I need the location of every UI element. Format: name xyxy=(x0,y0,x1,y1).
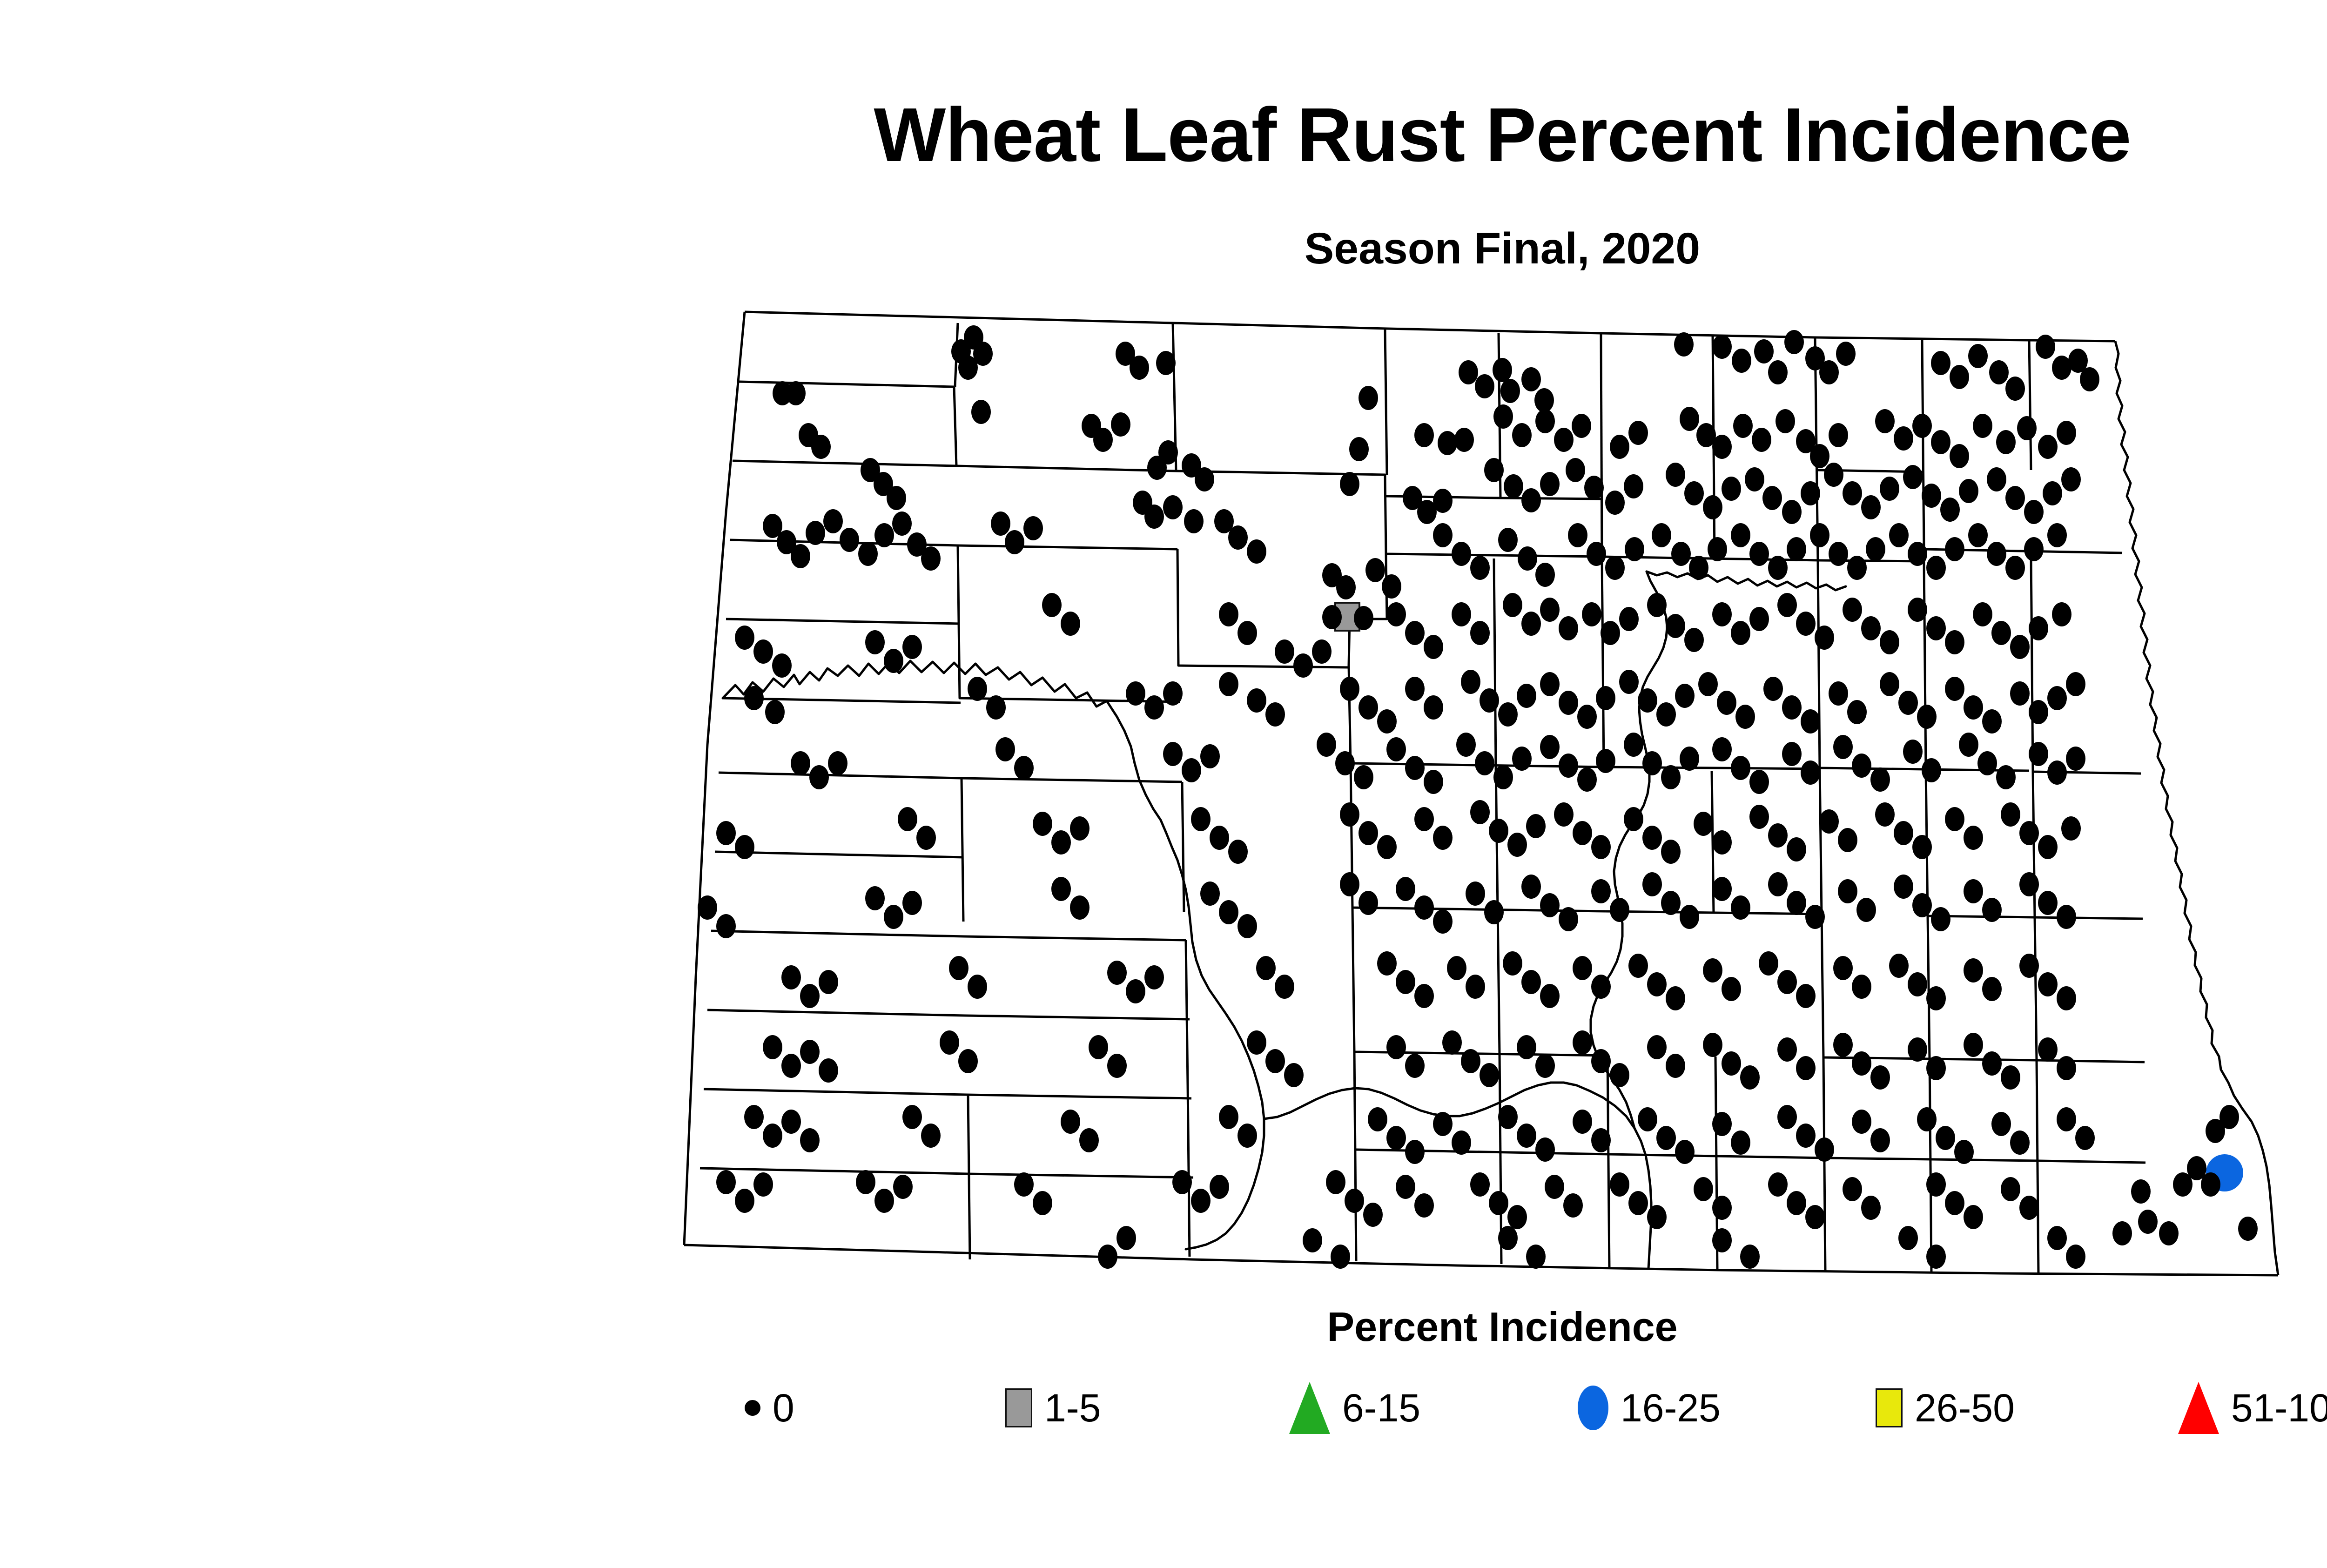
data-point-0 xyxy=(1475,374,1494,398)
data-point-0 xyxy=(1733,414,1753,438)
data-point-0 xyxy=(1566,458,1585,482)
data-point-0 xyxy=(1577,767,1597,792)
data-point-0 xyxy=(884,649,903,673)
data-point-0 xyxy=(1540,893,1560,917)
data-point-0 xyxy=(828,751,847,775)
data-point-0 xyxy=(1521,367,1541,391)
data-point-0 xyxy=(1521,612,1541,636)
data-point-0 xyxy=(1749,542,1769,566)
data-point-0 xyxy=(1852,1110,1871,1134)
data-point-0 xyxy=(1414,984,1434,1008)
data-point-0 xyxy=(1752,428,1771,452)
data-point-0 xyxy=(1433,523,1453,547)
data-point-0 xyxy=(1749,805,1769,829)
data-point-0 xyxy=(735,626,754,650)
data-point-0 xyxy=(1461,670,1480,694)
data-point-0 xyxy=(1815,1137,1834,1162)
data-point-0 xyxy=(1940,498,1960,522)
data-point-0 xyxy=(1642,751,1662,775)
data-point-0 xyxy=(1191,807,1211,831)
data-point-0 xyxy=(2047,686,2067,710)
data-point-0 xyxy=(995,737,1015,761)
data-point-0 xyxy=(1968,523,1988,547)
data-point-0 xyxy=(1847,700,1867,724)
data-point-0 xyxy=(1265,1049,1285,1073)
data-point-0 xyxy=(1540,735,1560,759)
data-point-0 xyxy=(1870,1128,1890,1152)
data-point-0 xyxy=(1703,1033,1722,1057)
data-point-0 xyxy=(1051,877,1071,901)
legend-item-6-15[interactable]: 6-15 xyxy=(1289,1368,1420,1447)
data-point-0 xyxy=(1493,765,1513,789)
data-point-0 xyxy=(1126,681,1145,706)
data-point-0 xyxy=(1912,414,1932,438)
data-point-0 xyxy=(1256,956,1276,980)
legend-item-26-50[interactable]: 26-50 xyxy=(1876,1368,2015,1447)
data-point-0 xyxy=(1712,435,1732,459)
data-point-0 xyxy=(1526,1245,1546,1269)
data-point-0 xyxy=(1340,872,1359,896)
data-point-0 xyxy=(1456,733,1476,757)
data-point-0 xyxy=(1489,1191,1508,1215)
data-point-0 xyxy=(2138,1210,2158,1234)
data-point-0 xyxy=(753,639,773,664)
data-point-0 xyxy=(1784,330,1804,354)
data-point-0 xyxy=(1768,872,1788,896)
data-point-0 xyxy=(1601,621,1620,645)
data-point-0 xyxy=(1833,1033,1853,1057)
data-point-0 xyxy=(1433,489,1453,513)
data-point-0 xyxy=(1903,465,1923,489)
data-point-0 xyxy=(1526,814,1546,838)
data-point-0 xyxy=(1908,1037,1927,1062)
data-point-0 xyxy=(811,435,831,459)
data-point-0 xyxy=(744,686,764,710)
data-point-0 xyxy=(921,1124,941,1148)
data-point-0 xyxy=(892,511,912,536)
data-point-0 xyxy=(2001,802,2020,827)
data-point-0 xyxy=(1493,404,1513,429)
data-point-0 xyxy=(1591,879,1611,903)
data-point-0 xyxy=(1922,758,1941,782)
data-point-0 xyxy=(809,765,829,789)
data-point-0 xyxy=(1763,677,1783,701)
data-point-0 xyxy=(1507,1205,1527,1229)
data-point-0 xyxy=(1517,1124,1536,1148)
data-point-0 xyxy=(765,700,785,724)
data-point-0 xyxy=(2017,416,2037,440)
data-point-0 xyxy=(1815,626,1834,650)
data-point-0 xyxy=(2057,421,2076,445)
data-point-0 xyxy=(1414,1193,1434,1218)
data-point-0 xyxy=(1861,616,1881,640)
data-point-0 xyxy=(1833,956,1853,980)
data-point-0 xyxy=(1498,528,1518,552)
data-point-0 xyxy=(1093,428,1113,452)
data-point-0 xyxy=(2024,537,2044,561)
data-point-0 xyxy=(1950,444,1969,468)
data-point-0 xyxy=(1722,1051,1741,1076)
data-point-0 xyxy=(2019,954,2039,978)
data-point-0 xyxy=(1438,431,1457,455)
data-point-0 xyxy=(1591,1128,1611,1152)
data-point-0 xyxy=(1573,956,1592,980)
data-point-0 xyxy=(893,1175,913,1199)
data-point-0 xyxy=(858,542,878,566)
data-point-0 xyxy=(2061,467,2081,491)
legend-square-icon xyxy=(1005,1388,1032,1427)
data-point-0 xyxy=(2029,616,2048,640)
data-point-0 xyxy=(1042,593,1062,617)
data-point-0 xyxy=(1535,409,1555,433)
data-point-0 xyxy=(2036,335,2055,359)
data-point-0 xyxy=(1908,542,1927,566)
data-point-0 xyxy=(2057,1107,2076,1131)
data-point-0 xyxy=(1991,621,2011,645)
data-point-0 xyxy=(2052,602,2071,626)
data-point-0 xyxy=(1801,481,1820,505)
legend-item-0[interactable]: 0 xyxy=(745,1368,794,1447)
data-point-0 xyxy=(1312,639,1332,664)
data-point-0 xyxy=(1787,837,1806,861)
data-point-0 xyxy=(1987,467,2006,491)
data-point-0 xyxy=(1345,1189,1364,1213)
data-point-0 xyxy=(1712,1228,1732,1252)
data-point-0 xyxy=(1521,488,1541,512)
legend-item-label: 26-50 xyxy=(1915,1386,2015,1431)
data-point-0 xyxy=(1926,986,1946,1010)
data-point-0 xyxy=(1610,435,1629,459)
data-point-0 xyxy=(1836,342,1856,366)
data-point-0 xyxy=(1014,756,1034,780)
data-point-0 xyxy=(1433,909,1453,934)
data-point-0 xyxy=(1247,688,1266,713)
data-point-0 xyxy=(1089,1035,1108,1059)
data-point-0 xyxy=(874,523,894,547)
data-point-0 xyxy=(1414,807,1434,831)
data-point-0 xyxy=(1819,360,1839,384)
data-point-0 xyxy=(1936,1126,1955,1150)
data-point-0 xyxy=(2001,1177,2020,1201)
data-point-0 xyxy=(1163,495,1183,519)
data-point-0 xyxy=(791,544,810,568)
data-point-0 xyxy=(1228,525,1248,550)
data-point-0 xyxy=(1200,744,1220,768)
data-point-0 xyxy=(1107,961,1127,985)
data-point-0 xyxy=(1359,821,1378,845)
data-point-0 xyxy=(1903,740,1923,764)
data-point-0 xyxy=(735,1189,754,1213)
data-point-0 xyxy=(1838,879,1857,903)
data-point-0 xyxy=(1559,691,1578,715)
data-point-0 xyxy=(1628,1191,1648,1215)
data-point-0 xyxy=(1898,691,1918,715)
data-point-0 xyxy=(1070,816,1090,841)
data-point-0 xyxy=(1591,835,1611,859)
data-point-0 xyxy=(1712,877,1732,901)
data-point-0 xyxy=(986,695,1006,720)
data-point-0 xyxy=(1749,770,1769,794)
data-point-0 xyxy=(2173,1172,2192,1197)
data-point-0 xyxy=(874,1189,894,1213)
data-point-0 xyxy=(1647,593,1667,617)
data-point-0 xyxy=(968,677,987,701)
data-point-0 xyxy=(902,635,922,659)
data-point-0 xyxy=(1731,1131,1750,1155)
data-point-0 xyxy=(1470,1172,1490,1197)
data-point-0 xyxy=(791,751,810,775)
data-point-0 xyxy=(1107,1054,1127,1078)
data-point-0 xyxy=(1810,523,1829,547)
data-point-0 xyxy=(1610,1172,1629,1197)
data-point-0 xyxy=(1503,951,1522,976)
data-point-0 xyxy=(1922,484,1941,508)
data-point-0 xyxy=(1405,621,1425,645)
data-point-0 xyxy=(1182,758,1201,782)
data-point-0 xyxy=(1996,765,2016,789)
data-point-0 xyxy=(1624,807,1643,831)
data-point-0 xyxy=(1061,1110,1080,1134)
data-point-0 xyxy=(1144,965,1164,989)
legend-title: Percent Incidence xyxy=(0,1303,2327,1351)
data-point-0 xyxy=(1754,339,1774,363)
data-point-0 xyxy=(2057,905,2076,929)
data-point-0 xyxy=(1573,1030,1592,1055)
data-point-0 xyxy=(1819,809,1839,834)
data-point-0 xyxy=(1987,542,2006,566)
data-point-0 xyxy=(1666,986,1685,1010)
data-point-0 xyxy=(1926,1172,1946,1197)
data-point-0 xyxy=(1195,467,1214,491)
data-point-0 xyxy=(1945,537,1964,561)
data-point-0 xyxy=(1666,1054,1685,1078)
data-point-0 xyxy=(1504,474,1523,498)
data-point-0 xyxy=(1833,735,1853,759)
data-point-0 xyxy=(1628,421,1648,445)
data-point-0 xyxy=(1033,812,1052,836)
data-point-0 xyxy=(1498,702,1518,727)
data-point-0 xyxy=(2080,367,2099,391)
data-point-0 xyxy=(968,975,987,999)
data-point-0 xyxy=(1591,1049,1611,1073)
data-point-0 xyxy=(1111,412,1130,437)
data-point-0 xyxy=(1675,684,1695,708)
data-point-0 xyxy=(1363,1203,1383,1227)
data-point-0 xyxy=(916,826,936,850)
data-point-0 xyxy=(1805,905,1825,929)
data-point-0 xyxy=(1340,677,1359,701)
data-point-0 xyxy=(800,984,820,1008)
data-point-0 xyxy=(1796,1124,1816,1148)
legend-item-51-100[interactable]: 51-100 xyxy=(2178,1368,2327,1447)
data-point-0 xyxy=(1894,875,1913,899)
data-point-0 xyxy=(1787,537,1806,561)
data-point-0 xyxy=(1861,1196,1881,1220)
data-point-0 xyxy=(958,1049,978,1073)
data-point-0 xyxy=(1470,621,1490,645)
data-point-0 xyxy=(2201,1172,2220,1197)
data-point-0 xyxy=(2238,1217,2258,1241)
data-point-0 xyxy=(958,356,978,380)
data-point-0 xyxy=(1144,505,1164,529)
data-point-0 xyxy=(1931,430,1950,454)
data-point-0 xyxy=(1368,1107,1387,1131)
data-point-0 xyxy=(1996,430,2016,454)
legend-item-label: 6-15 xyxy=(1342,1386,1420,1431)
data-point-0 xyxy=(1810,444,1829,468)
data-point-0 xyxy=(1466,975,1485,999)
data-point-0 xyxy=(1889,954,1909,978)
data-point-0 xyxy=(2047,760,2067,785)
data-point-0 xyxy=(1666,463,1685,487)
data-point-0 xyxy=(1219,672,1238,696)
data-point-0 xyxy=(1745,467,1764,491)
data-point-0 xyxy=(1322,605,1342,629)
data-point-0 xyxy=(1079,1128,1099,1152)
data-point-0 xyxy=(1666,614,1685,638)
data-point-0 xyxy=(1964,1033,1983,1057)
data-point-layer xyxy=(698,325,2258,1269)
data-point-0 xyxy=(1759,951,1778,976)
data-point-0 xyxy=(1172,1170,1192,1194)
data-point-0 xyxy=(1466,882,1485,906)
legend-item-1-5[interactable]: 1-5 xyxy=(1005,1368,1101,1447)
data-point-0 xyxy=(1801,709,1820,734)
data-point-0 xyxy=(1070,895,1090,920)
data-point-0 xyxy=(1247,1030,1266,1055)
data-point-0 xyxy=(1559,616,1578,640)
data-point-0 xyxy=(1377,709,1397,734)
data-point-0 xyxy=(2001,1065,2020,1090)
data-point-0 xyxy=(2061,816,2081,841)
data-point-0 xyxy=(1782,695,1802,720)
data-point-0 xyxy=(902,891,922,915)
data-point-0 xyxy=(1219,602,1238,626)
data-point-0 xyxy=(1191,1189,1211,1213)
data-point-0 xyxy=(1762,486,1782,510)
data-point-0 xyxy=(1717,691,1736,715)
data-point-0 xyxy=(1405,756,1425,780)
data-point-0 xyxy=(1144,695,1164,720)
data-point-0 xyxy=(1386,1035,1406,1059)
data-point-0 xyxy=(1843,598,1862,622)
data-point-0 xyxy=(1517,684,1536,708)
data-point-0 xyxy=(1950,365,1969,389)
data-point-0 xyxy=(1512,423,1532,447)
data-point-0 xyxy=(1563,1193,1583,1218)
data-point-0 xyxy=(1454,428,1474,452)
data-point-0 xyxy=(1656,702,1676,727)
data-point-0 xyxy=(1732,349,1751,373)
data-point-0 xyxy=(1275,975,1294,999)
data-point-0 xyxy=(1708,537,1727,561)
data-point-0 xyxy=(1559,907,1578,931)
data-point-0 xyxy=(1870,767,1890,792)
data-point-0 xyxy=(2038,972,2058,996)
data-point-0 xyxy=(1712,1112,1732,1136)
data-point-0 xyxy=(1386,737,1406,761)
data-point-0 xyxy=(2005,377,2025,401)
data-point-0 xyxy=(1712,602,1732,626)
data-point-0 xyxy=(823,509,843,533)
data-point-0 xyxy=(1917,1107,1937,1131)
data-point-0 xyxy=(2005,486,2025,510)
data-point-0 xyxy=(1954,1140,1974,1164)
data-point-0 xyxy=(2066,1245,2085,1269)
data-point-0 xyxy=(1158,440,1178,464)
data-point-0 xyxy=(1801,760,1820,785)
data-point-0 xyxy=(1642,872,1662,896)
data-point-0 xyxy=(971,400,991,424)
data-point-0 xyxy=(1889,523,1909,547)
data-point-0 xyxy=(1964,826,1983,850)
data-point-0 xyxy=(1898,1226,1918,1250)
data-point-0 xyxy=(1447,956,1466,980)
data-point-0 xyxy=(1521,970,1541,994)
data-point-0 xyxy=(1638,1107,1657,1131)
data-point-0 xyxy=(1265,702,1285,727)
data-point-0 xyxy=(2075,1126,2095,1150)
data-point-0 xyxy=(2057,986,2076,1010)
data-point-0 xyxy=(865,886,885,910)
legend-item-label: 1-5 xyxy=(1044,1386,1101,1431)
data-point-0 xyxy=(1731,895,1750,920)
data-point-0 xyxy=(1843,481,1862,505)
data-point-0 xyxy=(2019,872,2039,896)
data-point-0 xyxy=(1414,895,1434,920)
data-point-0 xyxy=(1703,958,1722,983)
data-point-0 xyxy=(2010,681,2030,706)
data-point-0 xyxy=(1452,1131,1471,1155)
data-point-0 xyxy=(902,1105,922,1129)
data-point-0 xyxy=(1894,426,1913,451)
data-point-0 xyxy=(2038,1037,2058,1062)
data-point-0 xyxy=(1926,1056,1946,1080)
data-point-0 xyxy=(1787,1191,1806,1215)
data-point-0 xyxy=(2219,1105,2239,1129)
data-point-0 xyxy=(1587,542,1606,566)
data-point-0 xyxy=(1284,1063,1304,1087)
data-point-0 xyxy=(1156,351,1176,375)
data-point-0 xyxy=(1656,1126,1676,1150)
data-point-0 xyxy=(1866,537,1885,561)
data-point-0 xyxy=(753,1172,773,1197)
data-point-0 xyxy=(1796,1056,1816,1080)
data-point-0 xyxy=(1219,900,1238,924)
data-point-0 xyxy=(1619,607,1639,631)
data-point-0 xyxy=(1652,523,1671,547)
data-point-0 xyxy=(1777,1037,1797,1062)
data-point-0 xyxy=(1712,335,1732,359)
data-point-0 xyxy=(1964,879,1983,903)
data-point-0 xyxy=(1470,556,1490,580)
legend-item-16-25[interactable]: 16-25 xyxy=(1578,1368,1721,1447)
data-point-0 xyxy=(1335,751,1355,775)
data-point-0 xyxy=(1824,463,1843,487)
data-point-0 xyxy=(1493,358,1512,382)
data-point-0 xyxy=(1875,409,1895,433)
data-point-0 xyxy=(2029,742,2048,766)
data-point-0 xyxy=(2043,481,2062,505)
data-point-0 xyxy=(1782,500,1802,524)
data-point-0 xyxy=(1749,607,1769,631)
data-point-0 xyxy=(1731,523,1750,547)
data-point-0 xyxy=(1674,332,1694,357)
data-point-0 xyxy=(1200,882,1220,906)
data-point-0 xyxy=(1503,593,1522,617)
legend-triangle-icon xyxy=(2178,1382,2219,1434)
data-point-0 xyxy=(1647,1205,1667,1229)
